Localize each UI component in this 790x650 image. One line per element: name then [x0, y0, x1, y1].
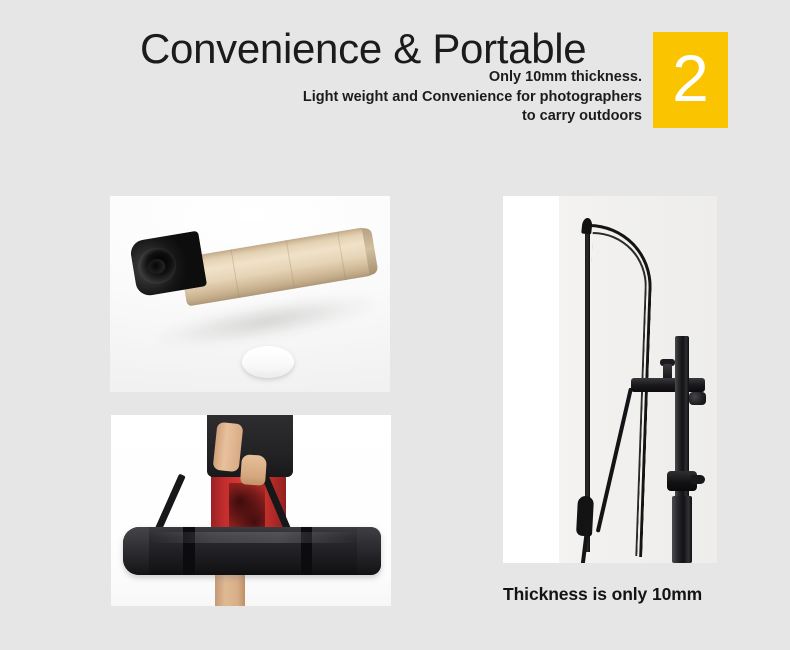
section-number: 2: [653, 32, 728, 128]
tube-seam-2: [286, 240, 295, 288]
tube-seam-3: [337, 232, 346, 280]
white-plastic-cap: [242, 346, 294, 378]
rolled-black-backdrop: [129, 231, 207, 298]
subtitle-block: Only 10mm thickness. Light weight and Co…: [190, 68, 642, 127]
section-number-badge: 2: [653, 32, 728, 128]
person-hand: [240, 454, 267, 486]
backdrop-roll-spiral: [135, 245, 178, 287]
stand-photo-white-margin: [503, 196, 559, 563]
photo-rolled-backdrop-in-kraft-tube: [110, 196, 390, 392]
bag-end-left: [123, 527, 149, 575]
page-title: Convenience & Portable: [140, 26, 650, 72]
header: Convenience & Portable Only 10mm thickne…: [0, 0, 790, 160]
crossbar-tightening-knob: [689, 392, 706, 405]
product-feature-page: Convenience & Portable Only 10mm thickne…: [0, 0, 790, 650]
stand-photo-content: [503, 196, 717, 563]
photo-backdrop-on-light-stand: [503, 196, 717, 563]
photo-person-carrying-bag: [111, 415, 391, 606]
backdrop-panel-tip: [581, 218, 593, 235]
tube-seam-1: [231, 249, 240, 297]
light-stand-collar-knob: [691, 475, 705, 484]
stand-crossbar-clamp: [631, 378, 705, 392]
bag-end-right: [357, 527, 381, 575]
bag-photo-content: [111, 415, 391, 606]
black-carry-bag: [123, 527, 381, 575]
subtitle-line-3: to carry outdoors: [190, 107, 642, 127]
bag-highlight: [149, 532, 359, 543]
person-arm: [213, 422, 244, 472]
tube-photo-content: [110, 196, 390, 392]
light-stand-lower-pole: [672, 496, 692, 563]
subtitle-line-1: Only 10mm thickness.: [190, 68, 642, 88]
thickness-caption: Thickness is only 10mm: [503, 584, 733, 605]
subtitle-line-2: Light weight and Convenience for photogr…: [190, 88, 642, 108]
